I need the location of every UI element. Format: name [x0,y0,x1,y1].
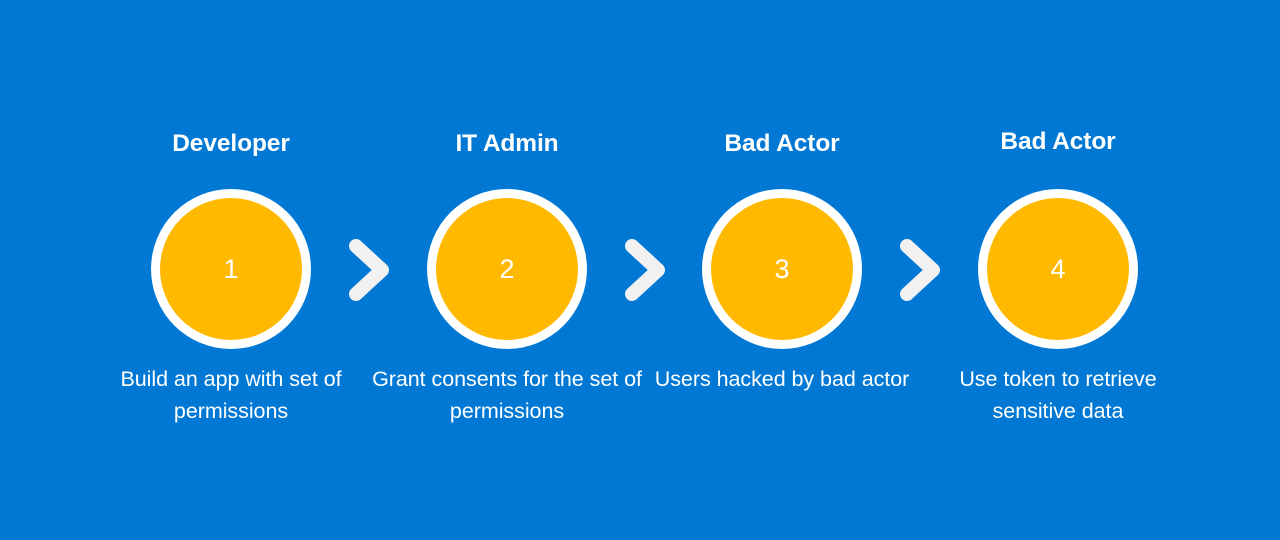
step-3-circle[interactable]: 3 [711,198,853,340]
step-2-circle[interactable]: 2 [436,198,578,340]
step-1-circle[interactable]: 1 [160,198,302,340]
step-3-number: 3 [774,256,789,283]
step-3-caption: Users hacked by bad actor [645,364,919,396]
step-1-number: 1 [223,256,238,283]
step-2-role-label: IT Admin [376,131,638,158]
step-3: Bad Actor 3 Users hacked by bad actor [651,0,913,540]
step-1-role-label: Developer [100,131,362,158]
step-4-caption: Use token to retrieve sensitive data [921,364,1195,427]
step-4-circle[interactable]: 4 [987,198,1129,340]
step-1-caption: Build an app with set of permissions [94,364,368,427]
step-2-caption: Grant consents for the set of permission… [370,364,644,427]
step-4: Bad Actor 4 Use token to retrieve sensit… [927,0,1189,540]
step-4-role-label: Bad Actor [927,129,1189,156]
step-2-number: 2 [499,256,514,283]
diagram-canvas: Developer 1 Build an app with set of per… [0,0,1280,540]
step-4-number: 4 [1050,256,1065,283]
step-3-role-label: Bad Actor [651,131,913,158]
step-1: Developer 1 Build an app with set of per… [100,0,362,540]
step-2: IT Admin 2 Grant consents for the set of… [376,0,638,540]
